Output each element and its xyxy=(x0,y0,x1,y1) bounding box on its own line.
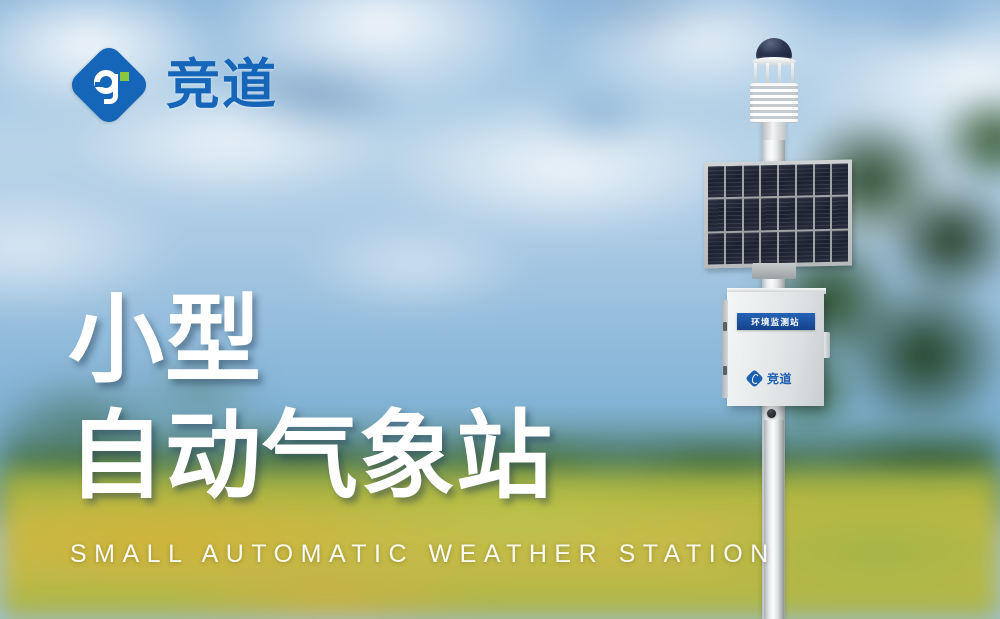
solar-panel-bracket xyxy=(752,263,796,279)
sensor-neck xyxy=(762,122,786,140)
headline-line-2: 自动气象站 xyxy=(68,408,553,506)
enclosure-vent xyxy=(824,332,830,358)
enclosure-box xyxy=(727,292,824,406)
enclosure-banner-text: 环境监测站 xyxy=(752,315,800,327)
radiation-shield-louvers xyxy=(750,83,798,123)
enclosure-brand-logo: 竞道 xyxy=(745,368,807,388)
brand-name: 竞道 xyxy=(166,58,278,112)
solar-cell-grid xyxy=(708,164,848,265)
logo-glyph-icon xyxy=(68,44,150,126)
mounting-pole-lower xyxy=(764,420,784,619)
solar-panel-icon xyxy=(704,159,852,268)
enclosure-logo-text: 竞道 xyxy=(767,370,792,387)
enclosure-latch-bottom xyxy=(723,366,727,375)
ultrasonic-weather-sensor-icon xyxy=(742,38,806,138)
enclosure-latch-top xyxy=(723,322,727,331)
headline-line-1: 小型 xyxy=(68,292,553,390)
enclosure-bottom-sensor xyxy=(767,409,776,418)
enclosure-logo-icon xyxy=(745,369,763,387)
enclosure-banner: 环境监测站 xyxy=(737,313,815,330)
brand-logo[interactable]: 竞道 xyxy=(68,44,278,126)
headline-subtitle: SMALL AUTOMATIC WEATHER STATION xyxy=(70,540,776,569)
enclosure-side-panel xyxy=(722,300,728,398)
jingdao-diamond-logo-icon xyxy=(68,44,150,126)
headline-block: 小型 自动气象站 xyxy=(68,292,553,506)
sensor-posts xyxy=(754,63,794,85)
weather-station-banner: 竞道 xyxy=(0,0,1000,619)
